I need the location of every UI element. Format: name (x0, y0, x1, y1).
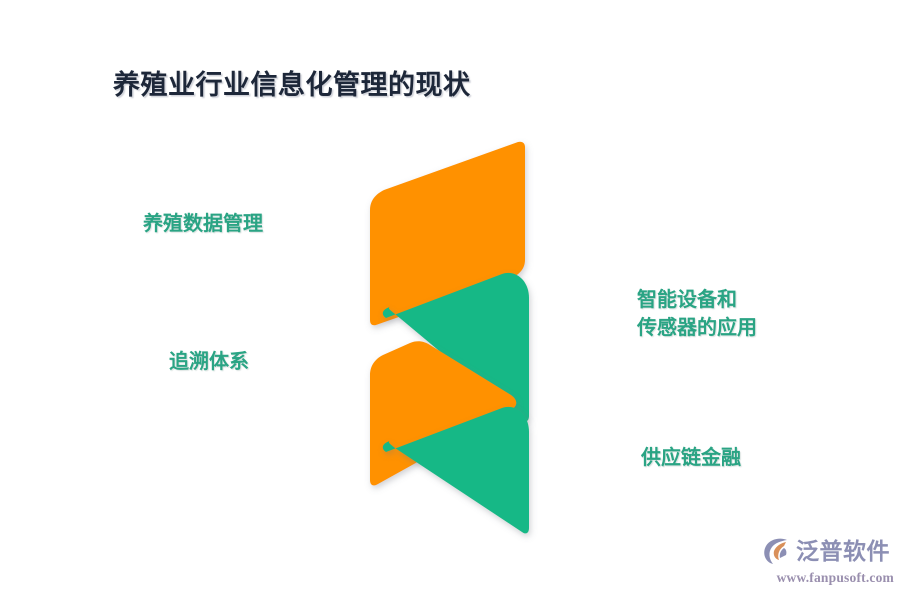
fanpu-logo-icon (762, 536, 792, 566)
label-smart-device-sensors-line1: 智能设备和 (637, 286, 757, 314)
zigzag-ribbon-graphic (350, 128, 550, 548)
label-traceability-text: 追溯体系 (169, 348, 249, 376)
watermark-logo: 泛普软件 www.fanpusoft.com (762, 534, 894, 592)
watermark-url-text: www.fanpusoft.com (762, 570, 894, 586)
label-supply-chain-finance-text: 供应链金融 (641, 444, 741, 472)
label-data-management-text: 养殖数据管理 (143, 210, 263, 238)
label-traceability: 追溯体系 (169, 348, 249, 376)
label-smart-device-sensors-line2: 传感器的应用 (637, 314, 757, 342)
label-smart-device-sensors: 智能设备和 传感器的应用 (637, 286, 757, 343)
slide-canvas: 养殖业行业信息化管理的现状 养殖数据管理 追溯体系 智能设备和 传感器的应用 (0, 0, 900, 600)
label-data-management: 养殖数据管理 (143, 210, 263, 238)
page-title: 养殖业行业信息化管理的现状 (113, 63, 471, 102)
watermark-row: 泛普软件 (762, 534, 894, 568)
label-supply-chain-finance: 供应链金融 (641, 444, 741, 472)
ribbon-svg (350, 128, 550, 548)
watermark-brand-text: 泛普软件 (796, 540, 890, 563)
